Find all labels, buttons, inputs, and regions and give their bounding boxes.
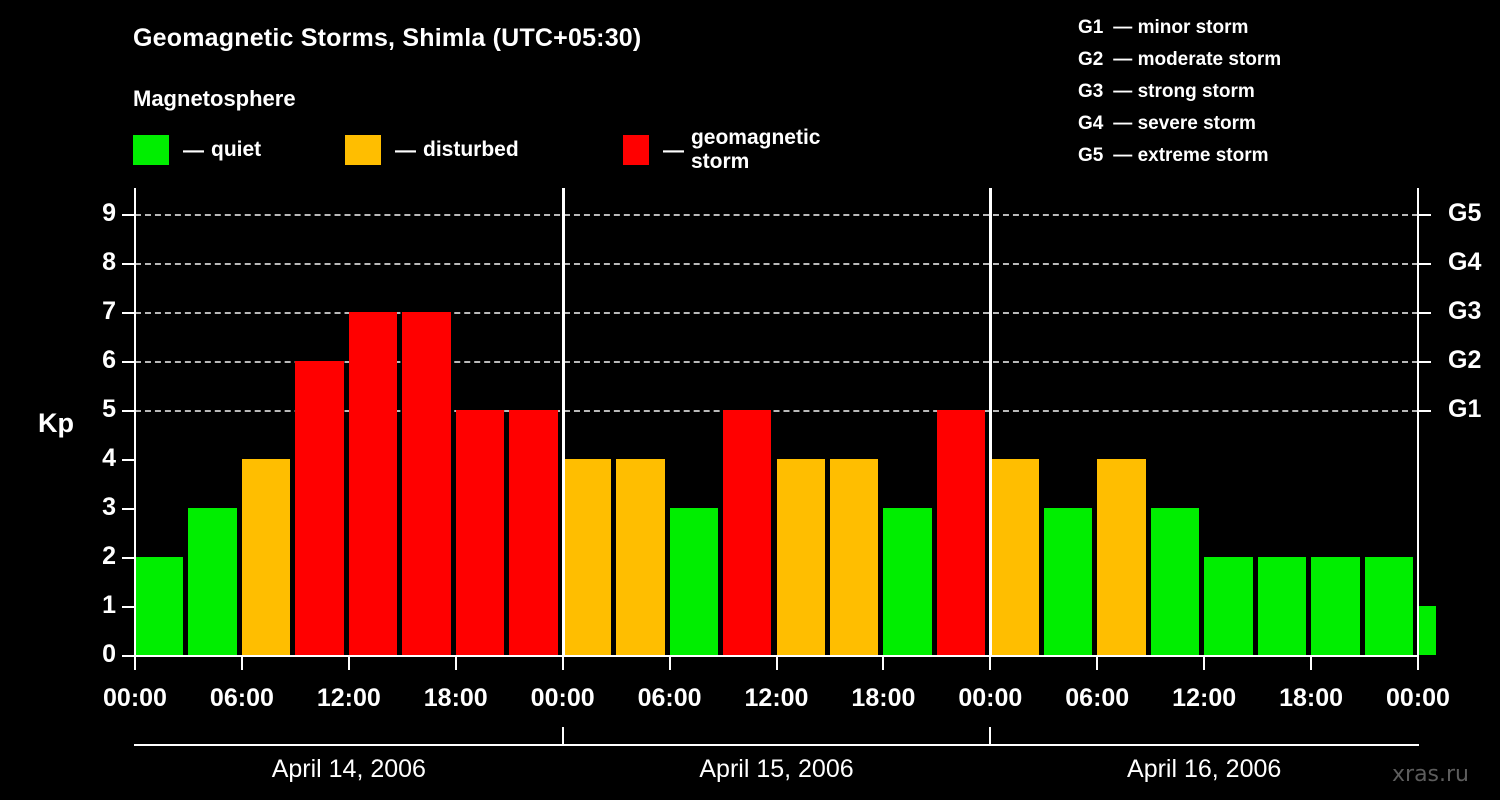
storm-scale-code: G1 — [1078, 12, 1108, 44]
watermark: xras.ru — [1392, 762, 1469, 787]
y-tick-label: 6 — [76, 346, 116, 375]
y-tick-label: 0 — [76, 640, 116, 669]
y-tick — [122, 263, 134, 265]
magnetosphere-heading: Magnetosphere — [133, 86, 296, 112]
y-tick-label: 5 — [76, 395, 116, 424]
storm-scale-row: G4 — severe storm — [1078, 108, 1281, 140]
x-tick-label: 06:00 — [638, 684, 702, 713]
g-tick — [1419, 312, 1431, 314]
bar — [990, 459, 1038, 655]
bar — [723, 410, 771, 655]
axis-left — [134, 188, 136, 657]
bar — [1258, 557, 1306, 655]
storm-scale-row: G3 — strong storm — [1078, 76, 1281, 108]
bar — [295, 361, 343, 655]
bar — [830, 459, 878, 655]
storm-scale-label: extreme storm — [1138, 145, 1269, 166]
storm-scale-row: G2 — moderate storm — [1078, 44, 1281, 76]
date-rule — [134, 744, 1419, 746]
storm-scale-key: G1 — minor stormG2 — moderate stormG3 — … — [1078, 12, 1281, 172]
y-tick-label: 8 — [76, 248, 116, 277]
legend-item: —geomagnetic storm — [623, 133, 831, 167]
storm-scale-label: severe storm — [1138, 113, 1256, 134]
bar — [242, 459, 290, 655]
x-tick-label: 18:00 — [424, 684, 488, 713]
gridline — [135, 263, 1418, 265]
legend-dash: — — [183, 140, 204, 161]
bar — [563, 459, 611, 655]
y-tick-label: 7 — [76, 297, 116, 326]
bar — [670, 508, 718, 655]
bar — [1044, 508, 1092, 655]
legend-dash: — — [395, 140, 416, 161]
y-tick — [122, 606, 134, 608]
y-tick — [122, 312, 134, 314]
quiet-swatch — [133, 135, 169, 165]
day-separator — [989, 188, 992, 657]
x-tick — [989, 657, 991, 670]
storm-scale-label: minor storm — [1138, 17, 1249, 38]
x-tick — [1203, 657, 1205, 670]
g-tick-label: G5 — [1448, 199, 1481, 228]
bar — [1365, 557, 1413, 655]
g-tick — [1419, 214, 1431, 216]
legend-item: —quiet — [133, 133, 261, 167]
storm-scale-code: G4 — [1078, 108, 1108, 140]
gridline — [135, 214, 1418, 216]
bar — [1151, 508, 1199, 655]
y-tick — [122, 459, 134, 461]
storm-swatch — [623, 135, 649, 165]
g-tick-label: G4 — [1448, 248, 1481, 277]
legend-dash: — — [663, 140, 684, 161]
bar — [1418, 606, 1436, 655]
x-tick-label: 12:00 — [745, 684, 809, 713]
x-tick-label: 18:00 — [851, 684, 915, 713]
plot-area — [135, 190, 1418, 655]
bar — [456, 410, 504, 655]
bar — [1311, 557, 1359, 655]
y-tick-label: 3 — [76, 493, 116, 522]
x-tick — [882, 657, 884, 670]
bar — [1097, 459, 1145, 655]
x-tick — [776, 657, 778, 670]
day-separator — [562, 188, 565, 657]
bar — [402, 312, 450, 655]
x-tick — [1310, 657, 1312, 670]
storm-scale-label: moderate storm — [1138, 49, 1282, 70]
y-tick — [122, 655, 134, 657]
bar — [616, 459, 664, 655]
x-tick-label: 06:00 — [210, 684, 274, 713]
g-tick — [1419, 263, 1431, 265]
x-tick-label: 12:00 — [1172, 684, 1236, 713]
x-tick — [1096, 657, 1098, 670]
chart-root: Geomagnetic Storms, Shimla (UTC+05:30) M… — [0, 0, 1500, 800]
bar — [135, 557, 183, 655]
y-axis-title: Kp — [38, 408, 74, 439]
y-tick — [122, 557, 134, 559]
x-tick — [348, 657, 350, 670]
date-caption: April 14, 2006 — [272, 755, 426, 784]
x-tick-label: 18:00 — [1279, 684, 1343, 713]
storm-scale-dash: — — [1108, 145, 1138, 166]
x-tick-label: 00:00 — [958, 684, 1022, 713]
bar — [777, 459, 825, 655]
bar — [188, 508, 236, 655]
legend-label: quiet — [211, 138, 261, 162]
storm-scale-dash: — — [1108, 17, 1138, 38]
date-separator-tick — [562, 727, 564, 744]
page-title: Geomagnetic Storms, Shimla (UTC+05:30) — [133, 24, 641, 53]
bar — [937, 410, 985, 655]
storm-scale-code: G5 — [1078, 140, 1108, 172]
x-tick-label: 00:00 — [531, 684, 595, 713]
x-tick-label: 06:00 — [1065, 684, 1129, 713]
x-tick-label: 00:00 — [1386, 684, 1450, 713]
storm-scale-dash: — — [1108, 49, 1138, 70]
x-tick — [669, 657, 671, 670]
x-tick — [134, 657, 136, 670]
g-tick — [1419, 361, 1431, 363]
y-tick-label: 2 — [76, 542, 116, 571]
y-tick — [122, 508, 134, 510]
axis-right — [1417, 188, 1419, 657]
bar — [509, 410, 557, 655]
storm-scale-label: strong storm — [1138, 81, 1255, 102]
bar — [883, 508, 931, 655]
x-tick — [562, 657, 564, 670]
y-tick — [122, 214, 134, 216]
storm-scale-code: G2 — [1078, 44, 1108, 76]
g-tick-label: G1 — [1448, 395, 1481, 424]
y-tick — [122, 361, 134, 363]
bar — [1204, 557, 1252, 655]
x-tick — [1417, 657, 1419, 670]
disturbed-swatch — [345, 135, 381, 165]
legend-label: disturbed — [423, 138, 519, 162]
y-tick-label: 1 — [76, 591, 116, 620]
g-tick-label: G3 — [1448, 297, 1481, 326]
storm-scale-row: G5 — extreme storm — [1078, 140, 1281, 172]
gridline — [135, 312, 1418, 314]
storm-scale-row: G1 — minor storm — [1078, 12, 1281, 44]
date-caption: April 16, 2006 — [1127, 755, 1281, 784]
x-tick-label: 00:00 — [103, 684, 167, 713]
storm-scale-code: G3 — [1078, 76, 1108, 108]
x-tick-label: 12:00 — [317, 684, 381, 713]
legend-label: geomagnetic storm — [691, 126, 831, 174]
date-separator-tick — [989, 727, 991, 744]
g-tick — [1419, 410, 1431, 412]
g-tick-label: G2 — [1448, 346, 1481, 375]
storm-scale-dash: — — [1108, 81, 1138, 102]
y-tick — [122, 410, 134, 412]
y-tick-label: 9 — [76, 199, 116, 228]
bar — [349, 312, 397, 655]
date-caption: April 15, 2006 — [699, 755, 853, 784]
x-tick — [455, 657, 457, 670]
legend-item: —disturbed — [345, 133, 519, 167]
x-tick — [241, 657, 243, 670]
y-tick-label: 4 — [76, 444, 116, 473]
storm-scale-dash: — — [1108, 113, 1138, 134]
